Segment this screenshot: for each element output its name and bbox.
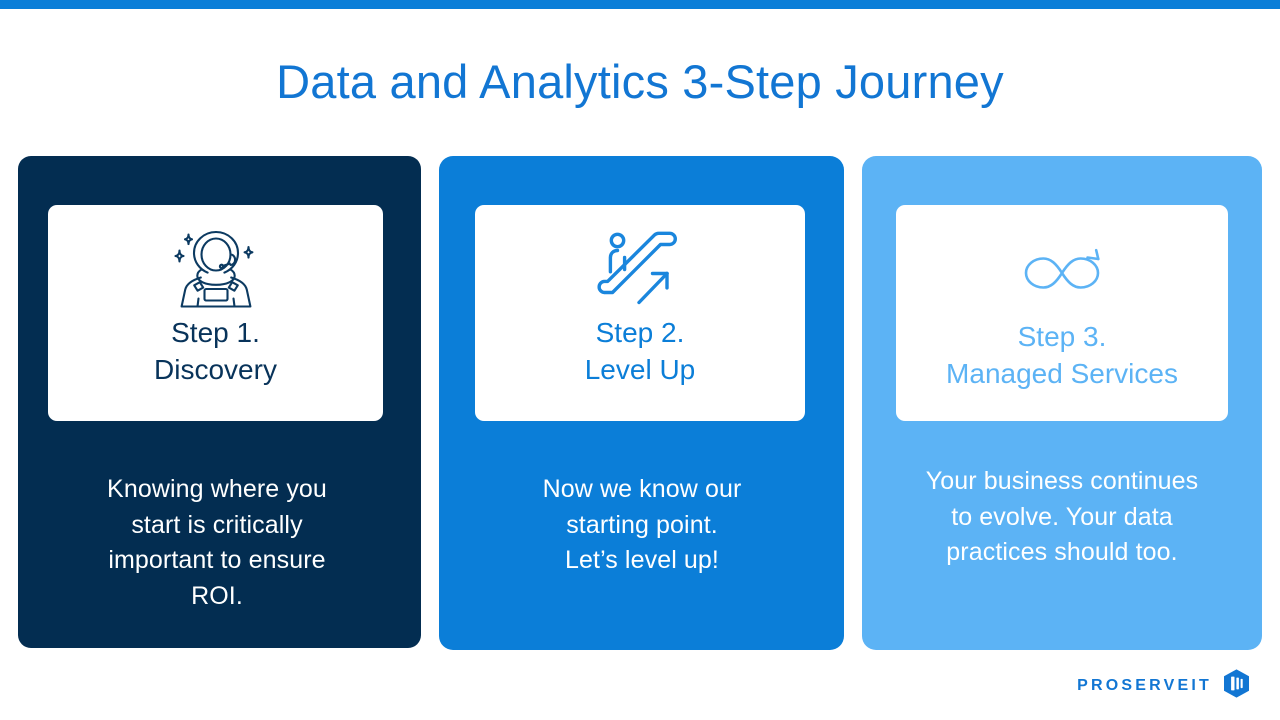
escalator-up-icon [590, 225, 690, 311]
step-card-1[interactable]: Step 1. Discovery Knowing where you star… [18, 156, 421, 648]
step-card-2-body: Now we know our starting point. Let’s le… [484, 472, 800, 579]
astronaut-icon [160, 225, 272, 311]
proserveit-logo: PROSERVEIT [1077, 668, 1252, 704]
step-card-1-label: Step 1. Discovery [154, 315, 277, 389]
step-card-3-body: Your business continues to evolve. Your … [892, 464, 1232, 571]
proserveit-hexagon-icon [1221, 668, 1252, 704]
proserveit-wordmark: PROSERVEIT [1077, 677, 1212, 695]
step-card-1-panel: Step 1. Discovery [48, 205, 383, 421]
step-card-3-panel: Step 3. Managed Services [896, 205, 1228, 421]
step-card-1-body: Knowing where you start is critically im… [58, 472, 376, 614]
step-card-2-panel: Step 2. Level Up [475, 205, 805, 421]
infinity-loop-arrow-icon [1014, 235, 1110, 311]
slide-canvas: Data and Analytics 3-Step Journey [0, 0, 1280, 720]
page-title: Data and Analytics 3-Step Journey [0, 55, 1280, 109]
step-card-2-label: Step 2. Level Up [585, 315, 696, 389]
step-card-3-label: Step 3. Managed Services [946, 319, 1178, 393]
step-card-3[interactable]: Step 3. Managed Services Your business c… [862, 156, 1262, 650]
step-card-2[interactable]: Step 2. Level Up Now we know our startin… [439, 156, 844, 650]
top-accent-bar [0, 0, 1280, 9]
